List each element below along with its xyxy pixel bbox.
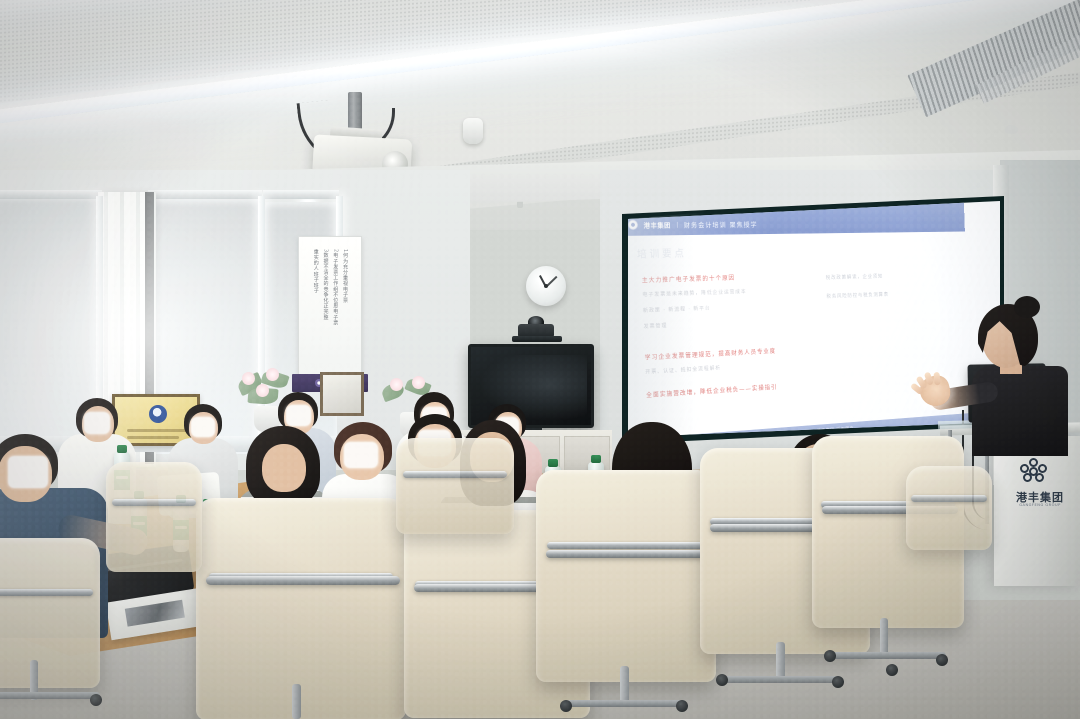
presenter (958, 300, 1078, 440)
presenter-hair-bun (1014, 296, 1040, 318)
blind-rail (263, 190, 339, 199)
slide-red-line-0: 主大力推广电子发票的十个原因 (642, 273, 736, 284)
chair-caster (90, 694, 102, 706)
chair-post (292, 684, 301, 719)
slide-brand-logo-icon (628, 220, 638, 230)
slide-body: 培训要点 主大力推广电子发票的十个原因 电子发票是未来趋势，降低企业运营成本 新… (628, 232, 971, 430)
chair-caster (560, 700, 572, 712)
slide-grey-line-3: 开票、认证、抵扣全流程解析 (645, 364, 721, 375)
meeting-room-photo: 1何为充分重视电子票 2电子发票工作组不位思电子票 3数据不清全的竞争化正完整 … (0, 0, 1080, 719)
chair-base (566, 700, 686, 707)
office-chair[interactable] (196, 498, 406, 719)
podium-company-name-en: GANGFENG GROUP (1004, 503, 1076, 507)
blind-rail (0, 190, 102, 199)
chair-base (830, 652, 946, 659)
slide-red-line-2: 全面实施营改增，降低企业税负——实操指引 (646, 382, 777, 399)
poster-column-4: 重实的人班子班子 (312, 249, 319, 363)
wall-poster: 1何为充分重视电子票 2电子发票工作组不位思电子票 3数据不清全的竞争化正完整 … (298, 236, 362, 376)
chair-base (0, 692, 100, 699)
slide-grey-line-2: 发票管理 (643, 322, 667, 330)
chair-caster (936, 654, 948, 666)
office-chair[interactable] (106, 462, 202, 572)
office-chair[interactable] (906, 466, 992, 550)
presenter-torso (972, 366, 1068, 456)
slide-brand-separator: | (676, 221, 678, 228)
podium (994, 436, 1080, 586)
poster-text-2: 电子发票工作组不位思电子票 (332, 253, 338, 326)
slide-red-line-1: 学习企业发票管理规范，提高财务人员专业度 (645, 346, 777, 361)
poster-column-3: 3数据不清全的竞争化正完整 (322, 249, 329, 363)
chair-chrome-rail (206, 576, 400, 585)
poster-text-1: 何为充分重视电子票 (342, 253, 348, 303)
chair-caster (886, 664, 898, 676)
poster-text-3: 数据不清全的竞争化正完整 (323, 253, 329, 320)
ceiling-sensor-icon (1005, 125, 1018, 134)
certificate-emblem-icon (149, 405, 167, 423)
slide-grey-line-5: 税务风险防控与税负测算表 (826, 291, 889, 300)
slide-grey-line-4: 税改政策解读，企业须知 (826, 273, 883, 281)
slide-section-heading: 培训要点 (637, 245, 687, 261)
slide-brand-name: 港丰集团 (643, 220, 671, 230)
slide-grey-line-0: 电子发票是未来趋势，降低企业运营成本 (642, 288, 746, 298)
chair-caster (824, 650, 836, 662)
poster-column-1: 1何为充分重视电子票 (341, 249, 348, 363)
office-chair[interactable] (0, 538, 100, 688)
blossom-logo-icon (1020, 458, 1048, 486)
office-chair[interactable] (536, 470, 716, 682)
chair-caster (676, 700, 688, 712)
chair-base (722, 676, 842, 683)
camera-mount-bar (512, 336, 562, 342)
poster-column-2: 2电子发票工作组不位思电子票 (332, 249, 339, 363)
presentation-slide: 首页 | 课程 | 资讯 | 关于 港丰集团 | 财务会计培训 聚焦授学 培训要… (628, 200, 971, 438)
poster-text-4: 重实的人班子班子 (313, 249, 319, 294)
blind-rail (148, 190, 262, 199)
chair-chrome-rail (546, 550, 710, 558)
slide-grey-line-1: 新政策 · 新流程 · 新平台 (643, 305, 711, 314)
office-chair[interactable] (396, 438, 514, 534)
wall-clock (526, 266, 566, 306)
chair-caster (832, 676, 844, 688)
smoke-detector-icon (463, 118, 483, 144)
slide-title: 财务会计培训 聚焦授学 (684, 219, 758, 229)
clock-center-pin (544, 284, 548, 288)
chair-caster (716, 674, 728, 686)
